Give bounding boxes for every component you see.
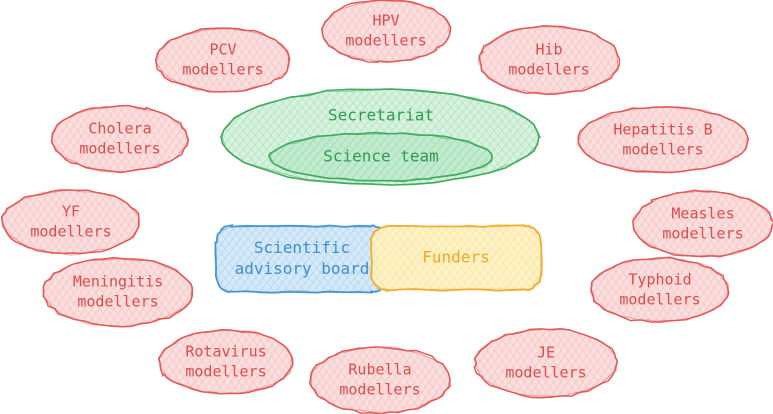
modeller-node-yf[interactable]: YFmodellers bbox=[1, 190, 140, 255]
modeller-pcv-label-line-2: modellers bbox=[182, 61, 263, 79]
modeller-meningitis-label-line-2: modellers bbox=[77, 293, 158, 311]
diagram-canvas: PCVmodellersHPVmodellersHibmodellersChol… bbox=[0, 0, 773, 414]
modeller-node-typhoid[interactable]: Typhoidmodellers bbox=[590, 257, 731, 322]
modeller-node-hib[interactable]: Hibmodellers bbox=[478, 25, 620, 94]
modeller-pcv-label-line-1: PCV bbox=[209, 41, 236, 59]
modeller-measles-label-line-2: modellers bbox=[662, 225, 743, 243]
modeller-je-label-line-1: JE bbox=[537, 344, 555, 362]
modeller-hepatitis-b-label-line-1: Hepatitis B bbox=[613, 121, 712, 139]
modeller-typhoid-label-line-2: modellers bbox=[619, 291, 700, 309]
core-node-scientific-advisory-board[interactable]: Scientificadvisory board bbox=[215, 225, 388, 293]
modeller-node-pcv[interactable]: PCVmodellers bbox=[155, 27, 290, 92]
modeller-cholera-label-line-2: modellers bbox=[79, 140, 160, 158]
modeller-node-measles[interactable]: Measlesmodellers bbox=[633, 190, 773, 257]
modeller-rotavirus-label-line-1: Rotavirus bbox=[185, 343, 266, 361]
modeller-yf-label-line-2: modellers bbox=[30, 223, 111, 241]
modeller-cholera-label-line-1: Cholera bbox=[88, 120, 151, 138]
modeller-node-meningitis[interactable]: Meningitismodellers bbox=[43, 257, 194, 326]
modeller-node-rotavirus[interactable]: Rotavirusmodellers bbox=[158, 330, 293, 394]
modeller-nodes-group: PCVmodellersHPVmodellersHibmodellersChol… bbox=[1, 0, 773, 414]
modeller-node-cholera[interactable]: Choleramodellers bbox=[51, 105, 189, 172]
modeller-node-hepatitis-b[interactable]: Hepatitis Bmodellers bbox=[577, 107, 748, 174]
core-secretariat-label-line-1: Secretariat bbox=[328, 106, 434, 125]
core-scientific-advisory-board-label-line-2: advisory board bbox=[235, 259, 370, 278]
modeller-measles-label-line-1: Measles bbox=[671, 205, 734, 223]
core-scientific-advisory-board-label-line-1: Scientific bbox=[254, 238, 350, 257]
modeller-je-label-line-2: modellers bbox=[505, 364, 586, 382]
modeller-rotavirus-label-line-2: modellers bbox=[185, 363, 266, 381]
modeller-typhoid-label-line-1: Typhoid bbox=[628, 271, 691, 289]
core-funders-label-line-1: Funders bbox=[422, 248, 489, 267]
modeller-meningitis-label-line-1: Meningitis bbox=[73, 273, 163, 291]
modeller-hib-label-line-1: Hib bbox=[535, 41, 562, 59]
modeller-rubella-label-line-1: Rubella bbox=[348, 361, 411, 379]
modeller-hepatitis-b-label-line-2: modellers bbox=[622, 141, 703, 159]
modeller-hib-label-line-2: modellers bbox=[508, 61, 589, 79]
core-node-funders[interactable]: Funders bbox=[370, 225, 541, 291]
modeller-hpv-label-line-2: modellers bbox=[345, 32, 426, 50]
modeller-yf-label-line-1: YF bbox=[62, 203, 80, 221]
core-science-team-label-line-1: Science team bbox=[323, 147, 439, 166]
modeller-node-hpv[interactable]: HPVmodellers bbox=[321, 0, 450, 62]
modeller-hpv-label-line-1: HPV bbox=[372, 12, 399, 30]
core-node-science-team[interactable]: Science team bbox=[269, 132, 493, 181]
core-nodes-group: SecretariatScience teamScientificadvisor… bbox=[215, 88, 542, 293]
modeller-node-je[interactable]: JEmodellers bbox=[474, 329, 617, 398]
modeller-rubella-label-line-2: modellers bbox=[339, 381, 420, 399]
modeller-node-rubella[interactable]: Rubellamodellers bbox=[310, 347, 450, 414]
consortium-structure-diagram: PCVmodellersHPVmodellersHibmodellersChol… bbox=[0, 0, 773, 414]
